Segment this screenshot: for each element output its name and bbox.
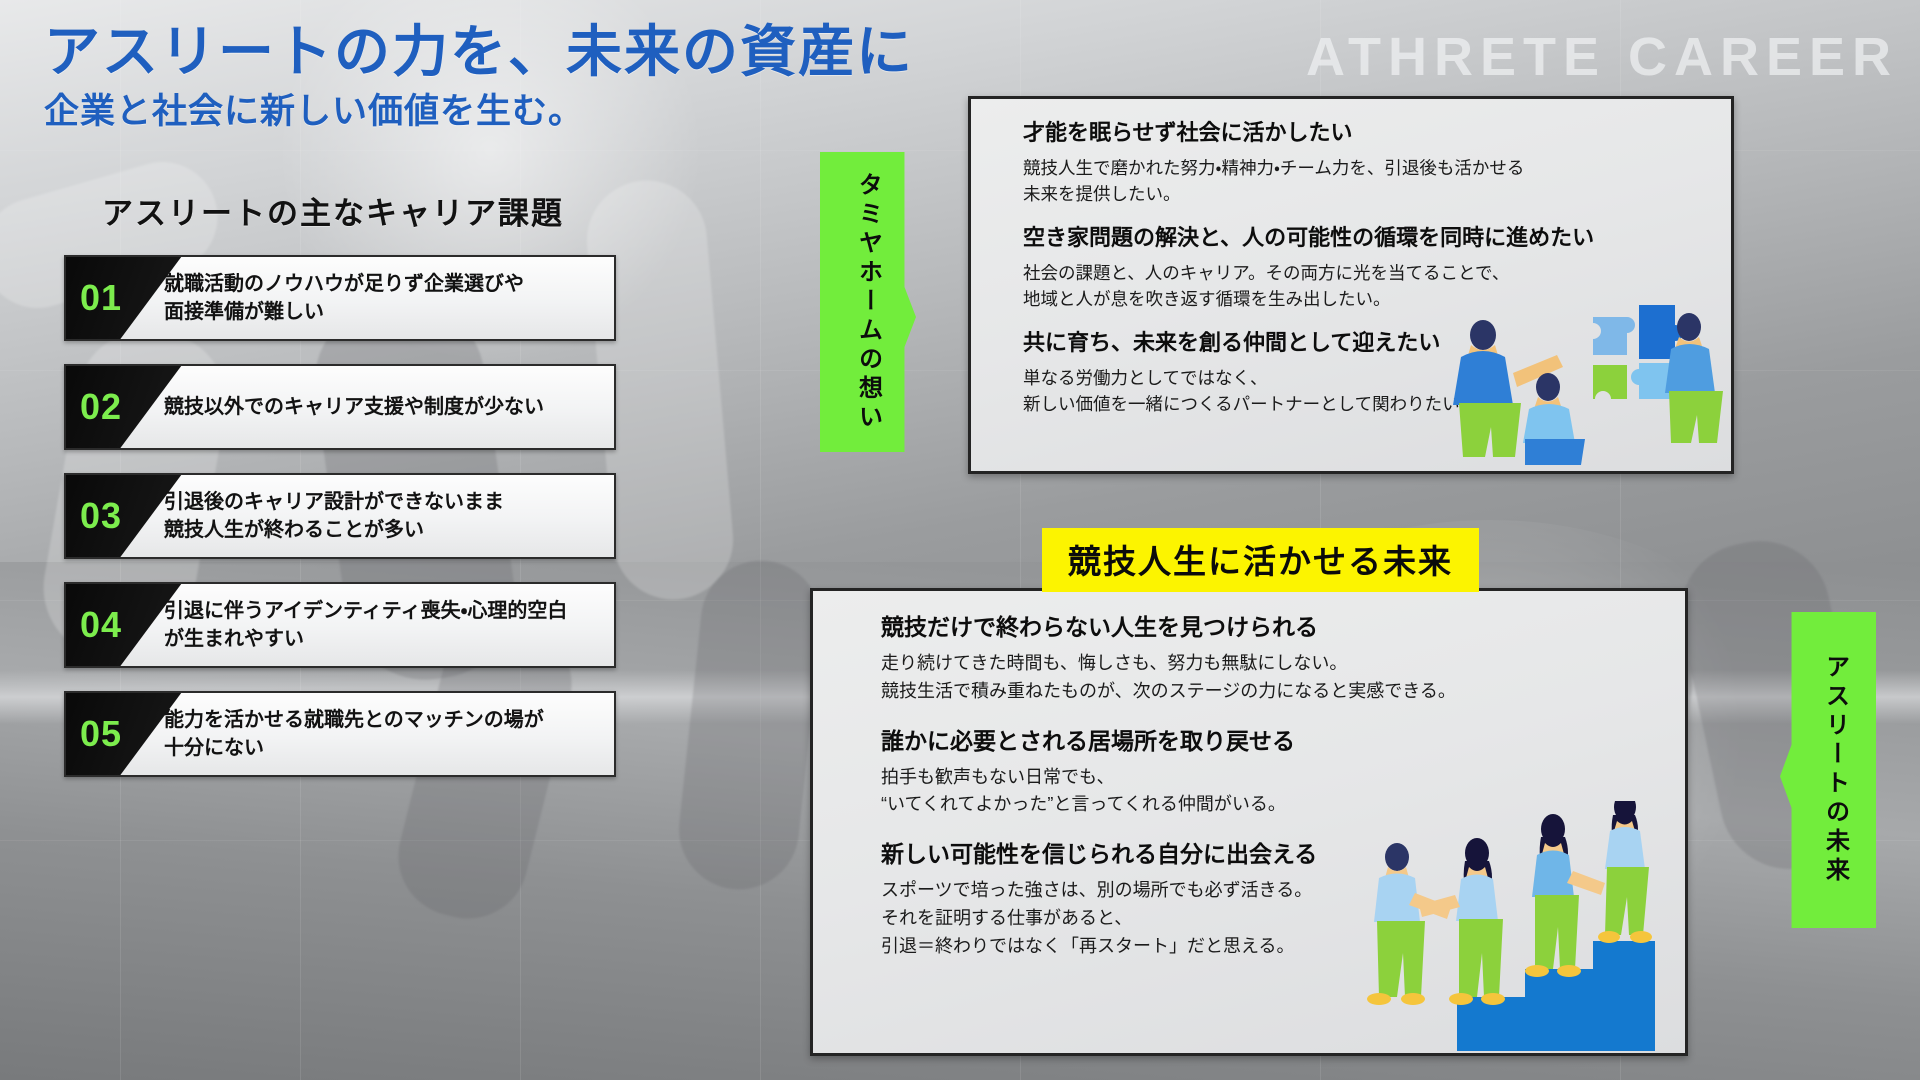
people-puzzle-illustration: [1443, 287, 1723, 467]
block-body-line: 未来を提供したい。: [1023, 181, 1705, 207]
block-heading: 競技だけで終わらない人生を見つけられる: [881, 613, 1659, 643]
issue-list: 01就職活動のノウハウが足りず企業選びや面接準備が難しい02競技以外でのキャリア…: [64, 255, 664, 777]
block-body: 走り続けてきた時間も、悔しさも、努力も無駄にしない。競技生活で積み重ねたものが、…: [881, 650, 1659, 706]
issue-number: 01: [66, 280, 170, 316]
content-block: 才能を眠らせず社会に活かしたい競技人生で磨かれた努力・精神力・チーム力を、引退後…: [1023, 119, 1705, 207]
block-body-line: 競技生活で積み重ねたものが、次のステージの力になると実感できる。: [881, 678, 1659, 706]
issue-text: 引退に伴うアイデンティティ喪失・心理的空白が生まれやすい: [164, 597, 581, 654]
issue-text: 競技以外でのキャリア支援や制度が少ない: [164, 393, 558, 421]
panel-athlete-future: 競技だけで終わらない人生を見つけられる走り続けてきた時間も、悔しさも、努力も無駄…: [810, 588, 1688, 1056]
banner-competitive-future: 競技人生に活かせる未来: [1042, 528, 1479, 592]
left-column-title: アスリートの主なキャリア課題: [102, 188, 664, 233]
block-body-line: 社会の課題と、人のキャリア。その両方に光を当てることで、: [1023, 260, 1705, 286]
brand-wordmark: ATHRETE CAREER: [1306, 26, 1898, 88]
issue-text-line: 競技以外でのキャリア支援や制度が少ない: [164, 393, 544, 421]
issue-number: 04: [66, 607, 170, 643]
issue-number: 02: [66, 389, 170, 425]
people-stairs-illustration: [1357, 801, 1657, 1051]
headline-sub: 企業と社会に新しい価値を生む。: [44, 94, 914, 129]
content-block: 競技だけで終わらない人生を見つけられる走り続けてきた時間も、悔しさも、努力も無駄…: [881, 613, 1659, 706]
tab-label: アスリートの未来: [1818, 654, 1853, 886]
tab-label: タミヤホームの想い: [851, 172, 886, 433]
issue-text-line: 面接準備が難しい: [164, 298, 524, 326]
issue-text-line: 就職活動のノウハウが足りず企業選びや: [164, 270, 524, 298]
tab-tamiya-home-omoi[interactable]: タミヤホームの想い: [820, 152, 916, 452]
issue-number: 03: [66, 498, 170, 534]
issue-text: 引退後のキャリア設計ができないまま競技人生が終わることが多い: [164, 488, 518, 545]
issue-text-line: 競技人生が終わることが多い: [164, 516, 504, 544]
block-heading: 才能を眠らせず社会に活かしたい: [1023, 119, 1705, 148]
issue-card[interactable]: 01就職活動のノウハウが足りず企業選びや面接準備が難しい: [64, 255, 616, 341]
issue-number: 05: [66, 716, 170, 752]
issue-card[interactable]: 05能力を活かせる就職先とのマッチンの場が十分にない: [64, 691, 616, 777]
block-heading: 誰かに必要とされる居場所を取り戻せる: [881, 727, 1659, 757]
issue-text-line: 引退後のキャリア設計ができないまま: [164, 488, 504, 516]
headline-main: アスリートの力を、未来の資産に: [44, 24, 914, 80]
issue-card[interactable]: 04引退に伴うアイデンティティ喪失・心理的空白が生まれやすい: [64, 582, 616, 668]
panel-tamiya-home-omoi: 才能を眠らせず社会に活かしたい競技人生で磨かれた努力・精神力・チーム力を、引退後…: [968, 96, 1734, 474]
issue-text-line: 十分にない: [164, 734, 544, 762]
block-body-line: 走り続けてきた時間も、悔しさも、努力も無駄にしない。: [881, 650, 1659, 678]
issue-text-line: 能力を活かせる就職先とのマッチンの場が: [164, 706, 544, 734]
career-issues-column: アスリートの主なキャリア課題 01就職活動のノウハウが足りず企業選びや面接準備が…: [64, 188, 664, 800]
issue-text-line: 引退に伴うアイデンティティ喪失・心理的空白: [164, 597, 567, 625]
block-body: 競技人生で磨かれた努力・精神力・チーム力を、引退後も活かせる未来を提供したい。: [1023, 155, 1705, 208]
block-heading: 空き家問題の解決と、人の可能性の循環を同時に進めたい: [1023, 224, 1705, 253]
issue-text: 能力を活かせる就職先とのマッチンの場が十分にない: [164, 706, 558, 763]
headline-group: アスリートの力を、未来の資産に 企業と社会に新しい価値を生む。: [44, 24, 914, 129]
block-body-line: 拍手も歓声もない日常でも、: [881, 764, 1659, 792]
block-body-line: 競技人生で磨かれた努力・精神力・チーム力を、引退後も活かせる: [1023, 155, 1705, 181]
tab-athlete-future[interactable]: アスリートの未来: [1780, 612, 1876, 928]
issue-card[interactable]: 03引退後のキャリア設計ができないまま競技人生が終わることが多い: [64, 473, 616, 559]
issue-card[interactable]: 02競技以外でのキャリア支援や制度が少ない: [64, 364, 616, 450]
issue-text: 就職活動のノウハウが足りず企業選びや面接準備が難しい: [164, 270, 538, 327]
background-grid-line: [760, 0, 761, 1080]
issue-text-line: が生まれやすい: [164, 625, 567, 653]
